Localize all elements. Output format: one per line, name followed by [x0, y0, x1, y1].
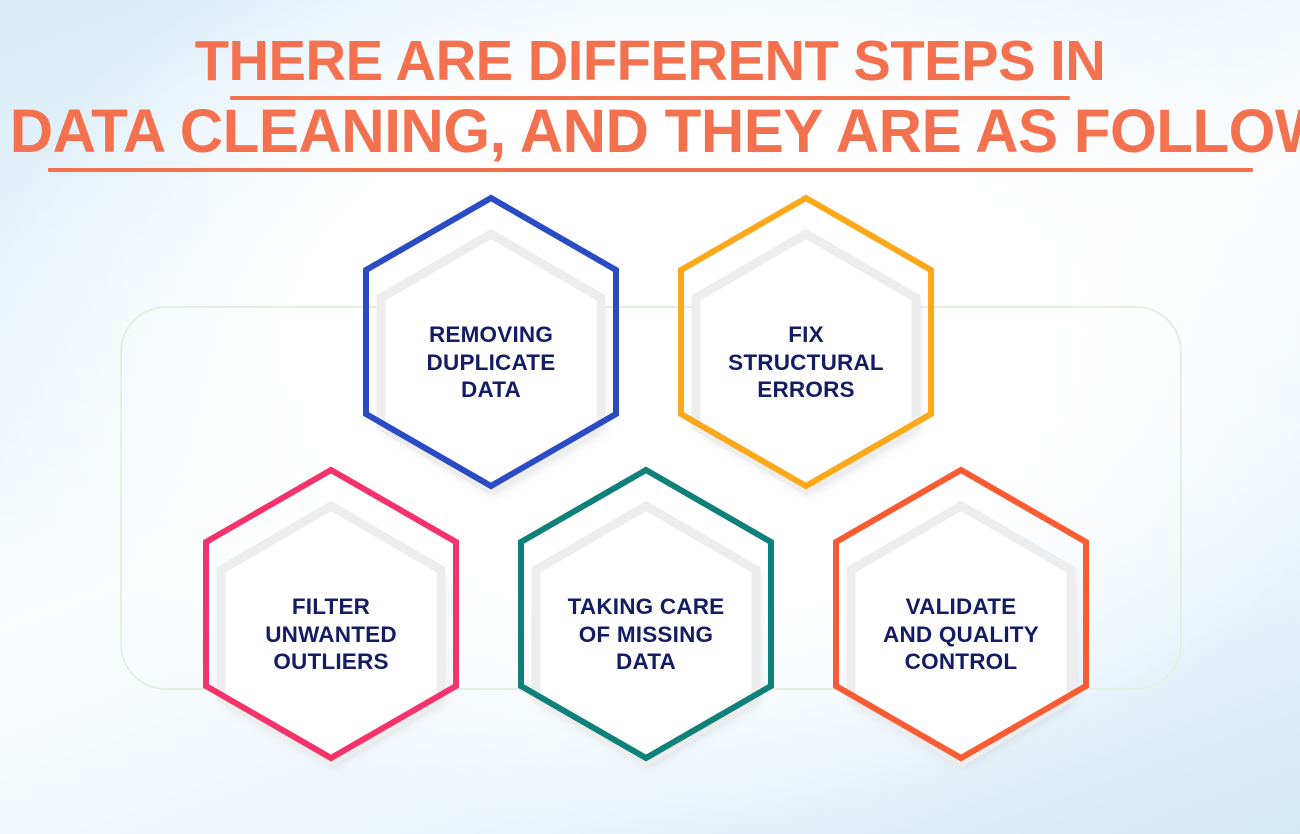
hex-step-taking-care-of-missing-data[interactable]: TAKING CARE OF MISSING DATA — [496, 464, 796, 804]
title-line-2: DATA CLEANING, AND THEY ARE AS FOLLOWS — [10, 104, 1291, 159]
infographic-canvas: THERE ARE DIFFERENT STEPS IN DATA CLEANI… — [0, 0, 1300, 834]
hex-inner-shape — [851, 506, 1071, 762]
hex-inner-shape — [381, 234, 601, 490]
hex-step-filter-unwanted-outliers[interactable]: FILTER UNWANTED OUTLIERS — [181, 464, 481, 804]
hex-inner-shape — [536, 506, 756, 762]
hex-inner-shape — [221, 506, 441, 762]
page-title: THERE ARE DIFFERENT STEPS IN DATA CLEANI… — [0, 34, 1300, 172]
title-line-1: THERE ARE DIFFERENT STEPS IN — [10, 34, 1291, 89]
title-underline-2 — [48, 168, 1253, 172]
hex-inner-shape — [696, 234, 916, 490]
hex-step-validate-and-quality-control[interactable]: VALIDATE AND QUALITY CONTROL — [811, 464, 1111, 804]
